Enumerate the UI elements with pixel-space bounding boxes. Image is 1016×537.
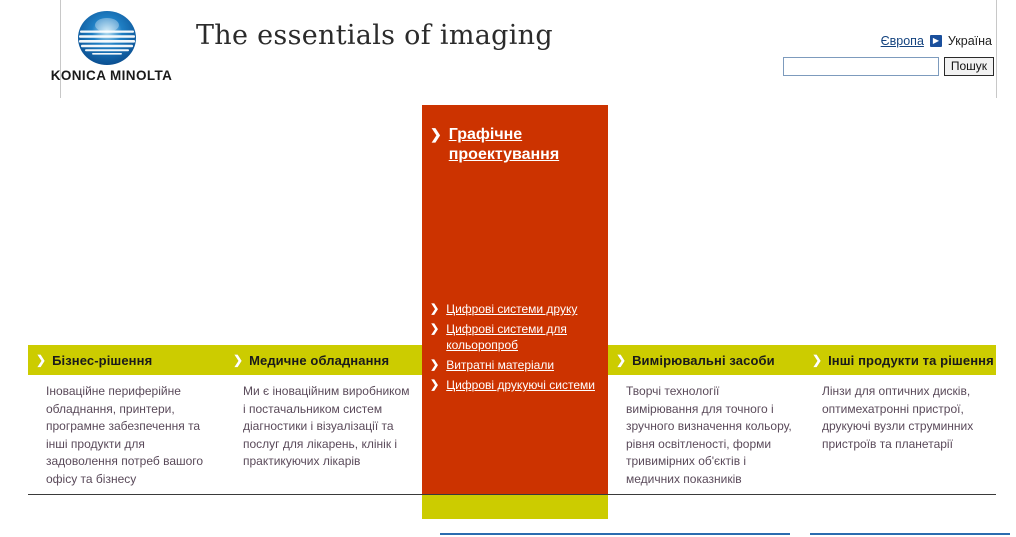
chevron-right-icon: ❯ xyxy=(430,125,442,165)
nav-bar-business-solutions[interactable]: ❯ Бізнес-рішення xyxy=(28,345,225,375)
nav-label: Вимірювальні засоби xyxy=(632,353,775,368)
search-input[interactable] xyxy=(783,57,939,76)
link-label[interactable]: Цифрові друкуючі системи xyxy=(446,377,595,393)
brand-name: KONICA MINOLTA xyxy=(44,68,179,83)
region-selector: Європа ▶ Україна xyxy=(881,34,992,48)
chevron-right-icon: ❯ xyxy=(430,321,439,353)
chevron-right-icon: ❯ xyxy=(430,301,439,317)
content-band: ❯ Бізнес-рішення Іноваційне периферійне … xyxy=(28,105,996,495)
footer-box-left[interactable] xyxy=(440,533,790,537)
brand-logo[interactable]: KONICA MINOLTA xyxy=(44,10,179,86)
search-button[interactable]: Пошук xyxy=(944,57,994,76)
photo-woman-at-desk-with-keyboard xyxy=(804,105,996,345)
search-form: Пошук xyxy=(783,57,994,76)
photo-macaw-parrots xyxy=(28,105,225,345)
nav-label: Інші продукти та рішення xyxy=(828,353,994,368)
link-label[interactable]: Цифрові системи для кольоропроб xyxy=(446,321,608,353)
chevron-right-icon: ❯ xyxy=(616,354,626,366)
region-current-country: Україна xyxy=(948,34,992,48)
column-other-products: ❯ Інші продукти та рішення Лінзи для опт… xyxy=(804,105,996,495)
nav-bar-other-products[interactable]: ❯ Інші продукти та рішення xyxy=(804,345,996,375)
link-item-color-proofing-systems[interactable]: ❯ Цифрові системи для кольоропроб xyxy=(430,321,608,353)
link-label[interactable]: Витратні матеріали xyxy=(446,357,554,373)
blurb-text: Ми є іноваційним виробником і постачальн… xyxy=(225,383,422,471)
nav-label: Бізнес-рішення xyxy=(52,353,152,368)
graphic-design-panel-tail xyxy=(422,495,608,519)
graphic-design-title-line2[interactable]: проектування xyxy=(449,146,559,163)
blurb-text: Лінзи для оптичних дисків, оптимехатронн… xyxy=(804,383,996,453)
photo-autumn-foliage xyxy=(608,105,804,345)
nav-bar-measuring-instruments[interactable]: ❯ Вимірювальні засоби xyxy=(608,345,804,375)
column-medical-equipment: ❯ Медичне обладнання Ми є іноваційним ви… xyxy=(225,105,422,495)
column-business-solutions: ❯ Бізнес-рішення Іноваційне периферійне … xyxy=(28,105,225,495)
chevron-right-icon: ▶ xyxy=(930,35,942,47)
column-measuring-instruments: ❯ Вимірювальні засоби Творчі технології … xyxy=(608,105,804,495)
link-item-digital-printing-systems[interactable]: ❯ Цифрові друкуючі системи xyxy=(430,377,608,393)
chevron-right-icon: ❯ xyxy=(430,377,439,393)
footer-box-right[interactable] xyxy=(810,533,1010,537)
graphic-design-panel: ❯ Графічне проектування ❯ Цифрові систем… xyxy=(422,105,608,495)
blurb-text: Творчі технології вимірювання для точног… xyxy=(608,383,804,488)
graphic-design-links: ❯ Цифрові системи друку ❯ Цифрові систем… xyxy=(430,301,608,397)
header-vertical-divider-right xyxy=(996,0,997,98)
konica-minolta-globe-logo-icon xyxy=(76,10,138,66)
photo-macaw-parrots-continued xyxy=(225,105,422,345)
graphic-design-title-line1[interactable]: Графічне xyxy=(449,126,522,143)
chevron-right-icon: ❯ xyxy=(812,354,822,366)
page-root: KONICA MINOLTA The essentials of imaging… xyxy=(0,0,1016,537)
link-item-consumables[interactable]: ❯ Витратні матеріали xyxy=(430,357,608,373)
chevron-right-icon: ❯ xyxy=(233,354,243,366)
nav-label: Медичне обладнання xyxy=(249,353,389,368)
nav-bar-medical-equipment[interactable]: ❯ Медичне обладнання xyxy=(225,345,422,375)
graphic-design-title[interactable]: ❯ Графічне проектування xyxy=(430,125,606,165)
region-link-europe[interactable]: Європа xyxy=(881,34,924,48)
link-label[interactable]: Цифрові системи друку xyxy=(446,301,577,317)
site-header: KONICA MINOLTA The essentials of imaging… xyxy=(0,0,1016,98)
blurb-text: Іноваційне периферійне обладнання, принт… xyxy=(28,383,225,488)
site-tagline: The essentials of imaging xyxy=(196,20,553,51)
link-item-digital-print-systems[interactable]: ❯ Цифрові системи друку xyxy=(430,301,608,317)
chevron-right-icon: ❯ xyxy=(36,354,46,366)
chevron-right-icon: ❯ xyxy=(430,357,439,373)
